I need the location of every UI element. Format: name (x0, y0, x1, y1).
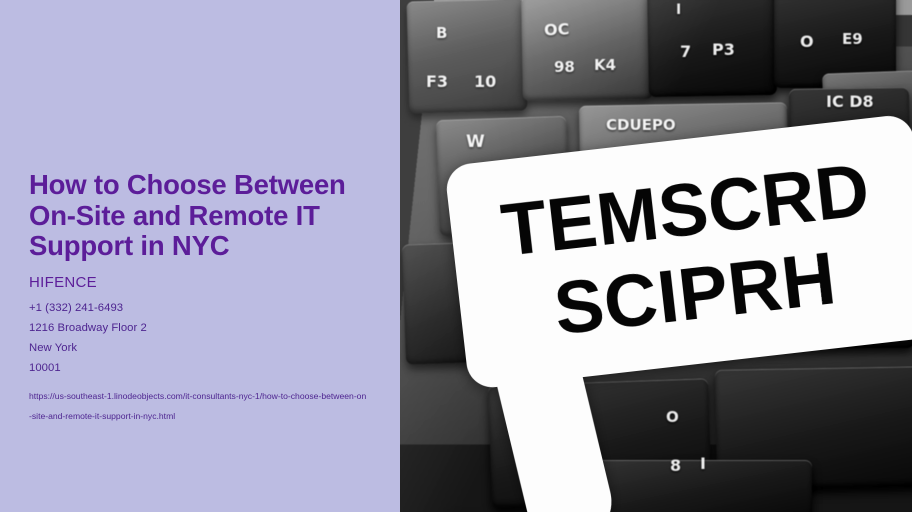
brand-name: HIFENCE (29, 274, 400, 291)
contact-city: New York (29, 338, 400, 358)
contact-street: 1216 Broadway Floor 2 (29, 318, 400, 338)
keycap-legend: W (466, 132, 485, 152)
contact-phone: +1 (332) 241-6493 (29, 298, 400, 318)
keyboard-photo: B F3 10 OC 98 K4 I 7 P3 O E9 IC D8 AA1 W… (400, 0, 912, 512)
keycap-legend: B (436, 24, 447, 42)
page-root: How to Choose Between On-Site and Remote… (0, 0, 912, 512)
keycap-legend: K4 (594, 56, 616, 74)
keycap-legend: OC (544, 19, 570, 39)
keycap-legend: E9 (842, 30, 863, 48)
contact-zip: 10001 (29, 358, 400, 378)
speech-bubble: TEMSCRD SCIPRH (444, 113, 912, 512)
keycap-legend: P3 (712, 40, 735, 59)
keycap-legend: F3 (426, 72, 448, 91)
source-url-link[interactable]: https://us-southeast-1.linodeobjects.com… (29, 386, 369, 426)
keycap-legend: CDUEPO (606, 116, 676, 134)
page-title: How to Choose Between On-Site and Remote… (29, 170, 397, 262)
keycap (407, 0, 528, 114)
keycap (521, 0, 653, 101)
article-info-inner: How to Choose Between On-Site and Remote… (29, 170, 400, 426)
keycap-legend: O (800, 32, 814, 51)
keycap-legend: IC D8 (826, 92, 874, 111)
article-info-panel: How to Choose Between On-Site and Remote… (0, 0, 400, 512)
contact-list: +1 (332) 241-6493 1216 Broadway Floor 2 … (29, 298, 400, 378)
keycap-legend: 10 (474, 72, 496, 91)
keycap-legend: 98 (554, 58, 575, 76)
keycap-legend: I (676, 2, 681, 18)
keycap-legend: 7 (680, 42, 691, 61)
